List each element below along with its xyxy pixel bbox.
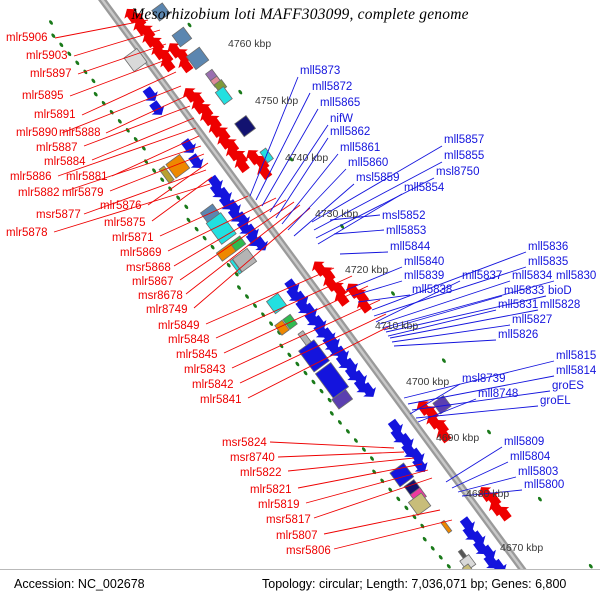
gene-label-mll8748[interactable]: mll8748: [478, 389, 518, 400]
gene-label-mlr5891[interactable]: mlr5891: [34, 110, 76, 121]
gene-label-mll5815[interactable]: mll5815: [556, 351, 596, 362]
gene-label-mll5857[interactable]: mll5857: [444, 135, 484, 146]
gene-label-mlr5906[interactable]: mlr5906: [6, 33, 48, 44]
gene-label-mll5873[interactable]: mll5873: [300, 66, 340, 77]
gene-label-mlr5887[interactable]: mlr5887: [36, 143, 78, 154]
gene-label-mll5840[interactable]: mll5840: [404, 257, 444, 268]
gene-label-msr5877[interactable]: msr5877: [36, 210, 81, 221]
gene-label-mll5834[interactable]: mll5834: [512, 271, 552, 282]
gene-label-groEL[interactable]: groEL: [540, 396, 571, 407]
gene-label-msl8750[interactable]: msl8750: [436, 167, 479, 178]
gene-label-msr5806[interactable]: msr5806: [286, 546, 331, 557]
gene-label-mll5855[interactable]: mll5855: [444, 151, 484, 162]
gene-label-msl8739[interactable]: msl8739: [462, 374, 505, 385]
gene-label-msr5817[interactable]: msr5817: [266, 515, 311, 526]
gene-label-mll5837[interactable]: mll5837: [462, 271, 502, 282]
gene-label-mlr5888[interactable]: mlr5888: [59, 128, 101, 139]
gene-label-mll5830[interactable]: mll5830: [556, 271, 596, 282]
axis-tick-2: 4740 kbp: [285, 152, 328, 164]
axis-tick-9: 4670 kbp: [500, 542, 543, 554]
gene-label-mlr5876[interactable]: mlr5876: [100, 201, 142, 212]
gene-label-mlr5878[interactable]: mlr5878: [6, 228, 48, 239]
gene-label-mll5872[interactable]: mll5872: [312, 82, 352, 93]
gene-label-mlr5819[interactable]: mlr5819: [258, 500, 300, 511]
axis-tick-7: 4690 kbp: [436, 432, 479, 444]
gene-label-mll5827[interactable]: mll5827: [512, 315, 552, 326]
axis-tick-5: 4710 kbp: [375, 320, 418, 332]
genome-map-viewer: Mesorhizobium loti MAFF303099, complete …: [0, 0, 600, 600]
gene-label-mlr5845[interactable]: mlr5845: [176, 350, 218, 361]
gene-label-msr5868[interactable]: msr5868: [126, 263, 171, 274]
gene-label-mll5854[interactable]: mll5854: [404, 183, 444, 194]
gene-label-mlr5843[interactable]: mlr5843: [184, 365, 226, 376]
gene-label-mll5835[interactable]: mll5835: [528, 257, 568, 268]
gene-label-mlr5897[interactable]: mlr5897: [30, 69, 72, 80]
gene-label-mlr5821[interactable]: mlr5821: [250, 485, 292, 496]
gene-label-mlr5822[interactable]: mlr5822: [240, 468, 282, 479]
gene-label-mll5803[interactable]: mll5803: [518, 467, 558, 478]
gene-label-mll5865[interactable]: mll5865: [320, 98, 360, 109]
axis-tick-3: 4730 kbp: [315, 208, 358, 220]
gene-label-mlr5875[interactable]: mlr5875: [104, 218, 146, 229]
gene-label-mll5862[interactable]: mll5862: [330, 127, 370, 138]
axis-tick-6: 4700 kbp: [406, 376, 449, 388]
gene-label-nifW[interactable]: nifW: [330, 114, 353, 125]
gene-label-mlr5842[interactable]: mlr5842: [192, 380, 234, 391]
axis-tick-4: 4720 kbp: [345, 264, 388, 276]
gene-label-mlr5871[interactable]: mlr5871: [112, 233, 154, 244]
gene-label-mlr5879[interactable]: mlr5879: [62, 188, 104, 199]
gene-label-mlr5886[interactable]: mlr5886: [10, 172, 52, 183]
gene-label-msr5824[interactable]: msr5824: [222, 438, 267, 449]
gene-label-mll5861[interactable]: mll5861: [340, 143, 380, 154]
gene-label-mll5809[interactable]: mll5809: [504, 437, 544, 448]
gene-label-mll5800[interactable]: mll5800: [524, 480, 564, 491]
gene-label-msl5852[interactable]: msl5852: [382, 211, 425, 222]
gene-label-mll5826[interactable]: mll5826: [498, 330, 538, 341]
gene-label-mlr8749[interactable]: mlr8749: [146, 305, 188, 316]
gene-label-mll5804[interactable]: mll5804: [510, 452, 550, 463]
gene-label-groES[interactable]: groES: [552, 381, 584, 392]
page-title: Mesorhizobium loti MAFF303099, complete …: [0, 6, 600, 24]
gene-label-mlr5849[interactable]: mlr5849: [158, 321, 200, 332]
gene-label-mlr5895[interactable]: mlr5895: [22, 91, 64, 102]
gene-label-mll5836[interactable]: mll5836: [528, 242, 568, 253]
gene-label-mlr5884[interactable]: mlr5884: [44, 157, 86, 168]
gene-label-mlr5867[interactable]: mlr5867: [132, 277, 174, 288]
gene-label-mll5838[interactable]: mll5838: [412, 285, 452, 296]
axis-tick-1: 4750 kbp: [255, 95, 298, 107]
gene-label-mlr5881[interactable]: mlr5881: [66, 172, 108, 183]
accession-text: Accession: NC_002678: [14, 577, 145, 591]
gene-label-mll5831[interactable]: mll5831: [498, 300, 538, 311]
gene-label-mlr5841[interactable]: mlr5841: [200, 395, 242, 406]
gene-label-mlr5869[interactable]: mlr5869: [120, 248, 162, 259]
gene-label-mlr5807[interactable]: mlr5807: [276, 531, 318, 542]
status-bar: Accession: NC_002678 Topology: circular;…: [0, 569, 600, 600]
gene-label-mll5814[interactable]: mll5814: [556, 366, 596, 377]
gene-label-msr8678[interactable]: msr8678: [138, 291, 183, 302]
gene-label-mll5844[interactable]: mll5844: [390, 242, 430, 253]
topology-text: Topology: circular; Length: 7,036,071 bp…: [262, 577, 566, 591]
gene-label-mlr5890[interactable]: mlr5890: [16, 128, 58, 139]
gene-label-msl5859[interactable]: msl5859: [356, 173, 399, 184]
gene-label-mll5839[interactable]: mll5839: [404, 271, 444, 282]
gene-label-mlr5882[interactable]: mlr5882: [18, 188, 60, 199]
axis-tick-0: 4760 kbp: [228, 38, 271, 50]
gene-label-mll5833[interactable]: mll5833: [504, 286, 544, 297]
gene-label-mll5853[interactable]: mll5853: [386, 226, 426, 237]
gene-label-mll5828[interactable]: mll5828: [540, 300, 580, 311]
gene-label-bioD[interactable]: bioD: [548, 286, 572, 297]
axis-tick-8: 4680 kbp: [466, 488, 509, 500]
gene-label-mlr5848[interactable]: mlr5848: [168, 335, 210, 346]
gene-label-mll5860[interactable]: mll5860: [348, 158, 388, 169]
gene-label-mlr5903[interactable]: mlr5903: [26, 51, 68, 62]
gene-label-msr8740[interactable]: msr8740: [230, 453, 275, 464]
